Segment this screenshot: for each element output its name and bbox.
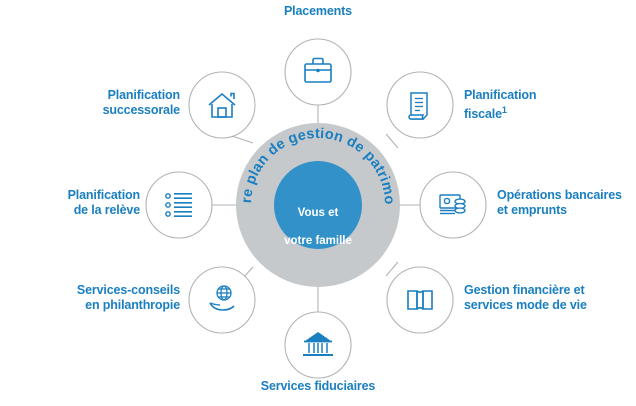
- label-services-conseils-philanthropie: Services-conseils en philanthropie: [40, 283, 180, 313]
- label-planification-fiscale-footnote: 1: [502, 105, 507, 115]
- node-circle-planification-fiscale[interactable]: [387, 72, 453, 138]
- node-circle-planification-successorale[interactable]: [189, 72, 255, 138]
- label-gestion-financiere: Gestion financière et services mode de v…: [464, 283, 614, 313]
- node-services-conseils-philanthropie[interactable]: [189, 267, 255, 333]
- label-placements: Placements: [258, 4, 378, 19]
- hub-center-line2: votre famille: [278, 234, 358, 248]
- label-planification-fiscale: Planification fiscale1: [464, 88, 614, 122]
- node-operations-bancaires[interactable]: [420, 172, 486, 238]
- node-circle-operations-bancaires[interactable]: [420, 172, 486, 238]
- connector-gestion-financiere: [386, 262, 398, 276]
- label-planification-releve: Planification de la relève: [20, 188, 140, 218]
- wealth-plan-diagram: Votre plan de gestion de patrimoine: [0, 0, 636, 406]
- connector-planification-fiscale: [386, 134, 398, 148]
- node-placements[interactable]: [285, 39, 351, 105]
- node-planification-successorale[interactable]: [189, 72, 255, 138]
- label-services-fiduciaires: Services fiduciaires: [248, 379, 388, 394]
- label-operations-bancaires: Opérations bancaires et emprunts: [497, 188, 636, 218]
- label-planification-successorale: Planification successorale: [60, 88, 180, 118]
- hub-center-line1: Vous et: [278, 206, 358, 220]
- label-planification-fiscale-text: Planification fiscale: [464, 88, 536, 121]
- node-planification-releve[interactable]: [146, 172, 212, 238]
- node-circle-planification-releve[interactable]: [146, 172, 212, 238]
- node-planification-fiscale[interactable]: [387, 72, 453, 138]
- hub-center-text: Vous et votre famille: [278, 192, 358, 262]
- node-circle-gestion-financiere[interactable]: [387, 267, 453, 333]
- node-gestion-financiere[interactable]: [387, 267, 453, 333]
- node-services-fiduciaires[interactable]: [285, 312, 351, 378]
